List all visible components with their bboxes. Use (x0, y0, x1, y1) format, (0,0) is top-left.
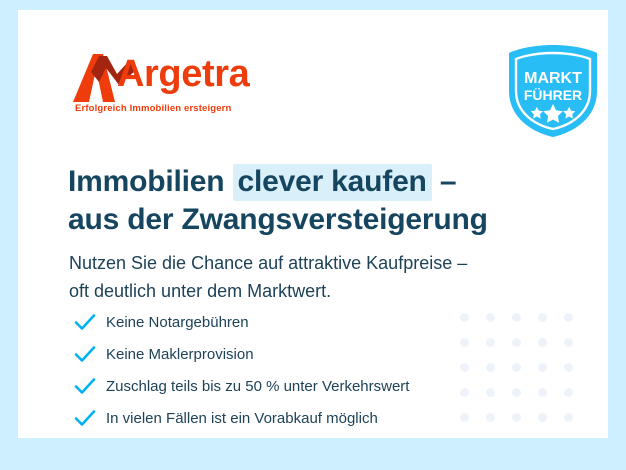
check-icon (73, 344, 97, 364)
logo-tagline: Erfolgreich Immobilien ersteigern (75, 103, 231, 114)
banner-card: Argetra Erfolgreich Immobilien ersteiger… (18, 10, 608, 438)
subheadline: Nutzen Sie die Chance auf attraktive Kau… (69, 250, 569, 306)
dot (564, 313, 573, 322)
benefit-list: Keine NotargebührenKeine Maklerprovision… (73, 308, 543, 436)
badge-line-1: MARKT (524, 70, 582, 87)
subheadline-line-1: Nutzen Sie die Chance auf attraktive Kau… (69, 250, 569, 278)
check-icon (73, 312, 97, 332)
benefit-item: Keine Notargebühren (73, 308, 543, 336)
benefit-label: Keine Maklerprovision (106, 346, 254, 363)
logo-wordmark: Argetra (117, 55, 249, 93)
benefit-item: In vielen Fällen ist ein Vorabkauf mögli… (73, 404, 543, 432)
benefit-label: Keine Notargebühren (106, 314, 249, 331)
headline-line-1: Immobilien clever kaufen – (68, 163, 568, 201)
headline-line-1-pre: Immobilien (68, 165, 233, 198)
argetra-logo: Argetra Erfolgreich Immobilien ersteiger… (73, 50, 273, 120)
headline-highlight: clever kaufen (233, 164, 432, 201)
headline-line-1-post: – (432, 165, 457, 198)
badge-line-2: FÜHRER (524, 87, 582, 103)
dot (564, 338, 573, 347)
benefit-label: In vielen Fällen ist ein Vorabkauf mögli… (106, 410, 378, 427)
promo-banner: Argetra Erfolgreich Immobilien ersteiger… (0, 0, 626, 470)
check-icon (73, 408, 97, 428)
dot (564, 413, 573, 422)
subheadline-line-2: oft deutlich unter dem Marktwert. (69, 278, 569, 306)
headline-line-2: aus der Zwangsversteigerung (68, 201, 568, 239)
headline: Immobilien clever kaufen – aus der Zwang… (68, 163, 568, 240)
check-icon (73, 376, 97, 396)
benefit-label: Zuschlag teils bis zu 50 % unter Verkehr… (106, 378, 409, 395)
dot (564, 388, 573, 397)
benefit-item: Keine Maklerprovision (73, 340, 543, 368)
shield-badge-icon: MARKT FÜHRER (505, 43, 601, 139)
benefit-item: Zuschlag teils bis zu 50 % unter Verkehr… (73, 372, 543, 400)
dot (564, 363, 573, 372)
